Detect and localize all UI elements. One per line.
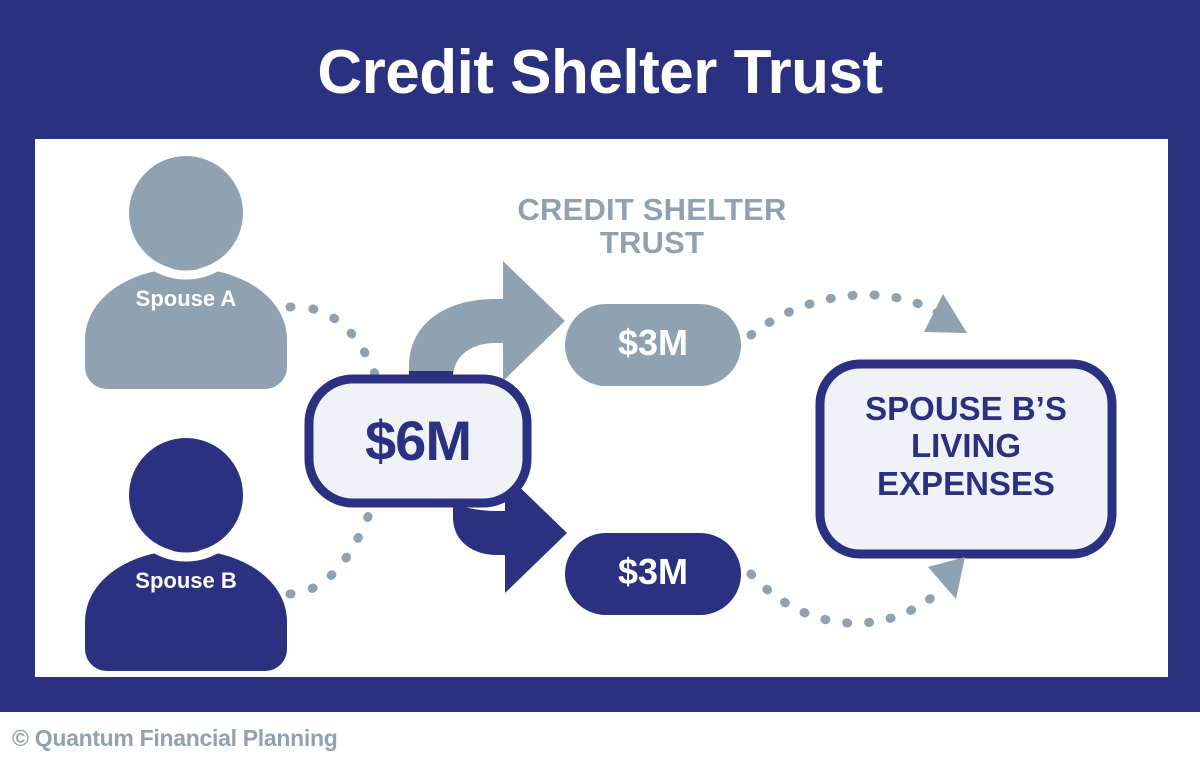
credit-shelter-trust-title: CREDIT SHELTER TRUST xyxy=(487,194,817,260)
connector-survivor-share-to-expenses xyxy=(751,557,965,623)
footer-credit: © Quantum Financial Planning xyxy=(12,725,337,752)
spouse-a-status-label: DIES xyxy=(88,354,284,386)
connector-spouse-b-to-hub xyxy=(290,494,377,594)
trust-amount-label: $3M xyxy=(565,324,741,362)
estate-total-label: $6M xyxy=(313,411,523,470)
living-expenses-label: SPOUSE B’S LIVING EXPENSES xyxy=(825,390,1107,502)
page-title: Credit Shelter Trust xyxy=(0,36,1200,110)
infographic-root: Credit Shelter Trust xyxy=(0,0,1200,769)
diagram-canvas: Spouse A DIES Spouse B CREDIT SHELTER TR… xyxy=(35,139,1168,677)
spouse-b-icon xyxy=(85,433,287,671)
survivor-share-amount-label: $3M xyxy=(565,553,741,591)
connector-trust-to-expenses xyxy=(751,294,967,335)
spouse-a-label: Spouse A xyxy=(88,287,284,310)
spouse-b-label: Spouse B xyxy=(88,569,284,592)
